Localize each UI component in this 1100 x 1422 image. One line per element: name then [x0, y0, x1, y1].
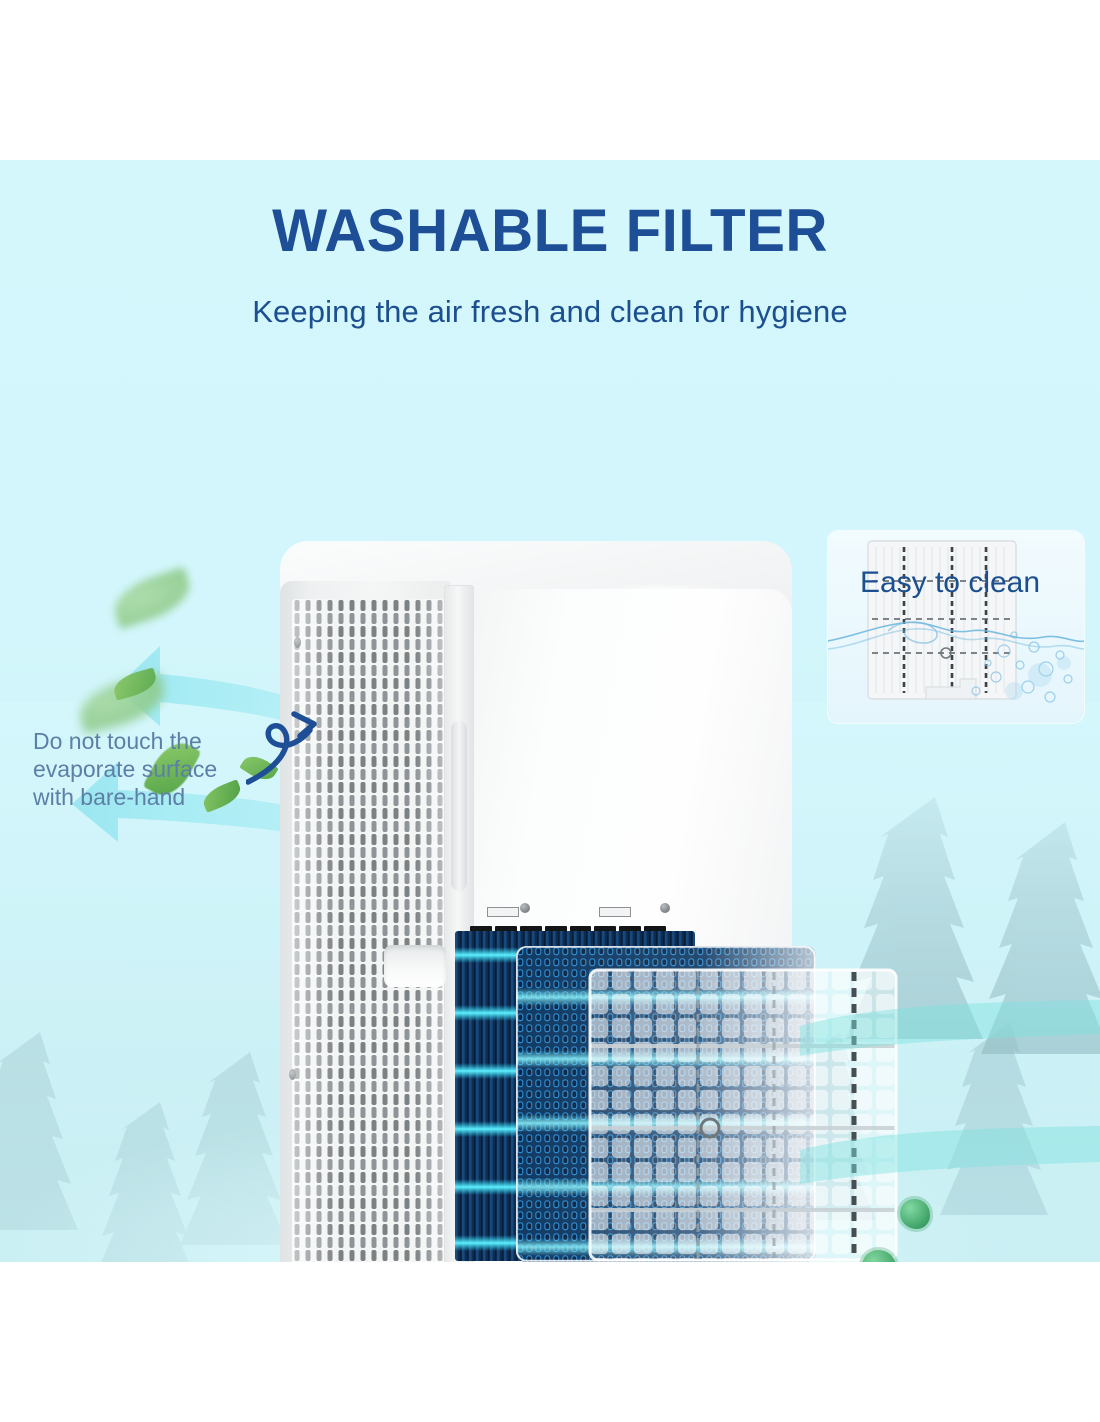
- product-feature-image: WASHABLE FILTER Keeping the air fresh an…: [0, 0, 1100, 1422]
- washable-grille: [588, 968, 898, 1262]
- warning-note-line: with bare-hand: [33, 783, 278, 811]
- page-title: WASHABLE FILTER: [17, 196, 1084, 265]
- warning-note-line: evaporate surface: [33, 755, 278, 783]
- screw-hole: [660, 903, 670, 913]
- side-handle-strip: [451, 721, 467, 891]
- screw-dot: [289, 1069, 296, 1080]
- mount-bracket: [599, 907, 631, 917]
- mount-bracket: [487, 907, 519, 917]
- pollutant-particle-icon: [900, 1199, 930, 1229]
- washable-grille-icon: [828, 531, 1084, 723]
- warning-arrow-icon: [246, 690, 356, 790]
- warning-note: Do not touch the evaporate surface with …: [33, 727, 278, 811]
- page-subtitle: Keeping the air fresh and clean for hygi…: [0, 294, 1100, 330]
- recessed-handle: [384, 945, 446, 987]
- warning-note-line: Do not touch the: [33, 727, 278, 755]
- grille-lattice-icon: [588, 968, 898, 1262]
- screw-hole: [520, 903, 530, 913]
- easy-to-clean-caption: Easy to clean: [800, 566, 1100, 600]
- easy-to-clean-card: [828, 531, 1084, 723]
- screw-dot: [294, 637, 301, 648]
